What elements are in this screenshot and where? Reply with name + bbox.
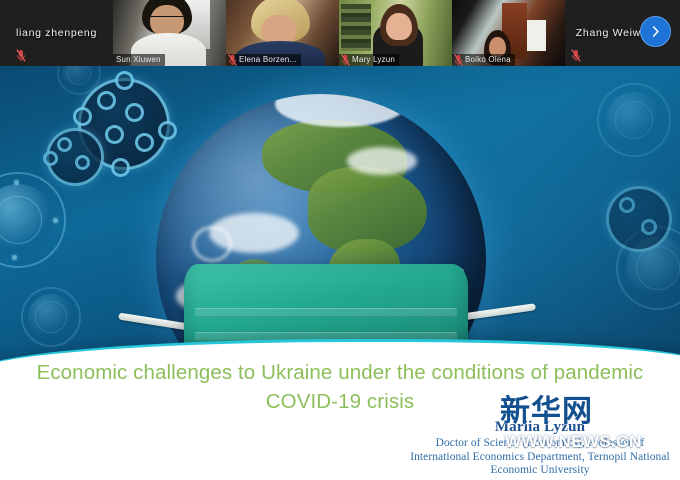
coronavirus-particle: [606, 92, 662, 148]
participant-tile[interactable]: Elena Borzen...: [226, 0, 339, 66]
chevron-right-icon: [648, 24, 663, 39]
microphone-muted-icon: [571, 49, 581, 62]
participant-name: liang zhenpeng: [16, 27, 97, 39]
participant-name: Elena Borzen...: [226, 54, 301, 66]
participant-tile[interactable]: Boiko Olena: [452, 0, 565, 66]
participant-tile[interactable]: Mary Lyzun: [339, 0, 452, 66]
coronavirus-particle: [46, 128, 104, 186]
microphone-muted-icon: [228, 53, 237, 65]
xinhua-logo: 新华网: [500, 396, 593, 428]
coronavirus-particle: [606, 186, 672, 252]
microphone-muted-icon: [16, 49, 26, 62]
participant-tile[interactable]: Sun Xiuwen: [113, 0, 226, 66]
participant-filmstrip: liang zhenpeng Sun Xiuwen: [0, 0, 680, 66]
coronavirus-particle: [28, 294, 74, 340]
microphone-muted-icon: [454, 53, 463, 65]
watermark-url: WWW.NEWS.CN: [505, 432, 642, 452]
participant-tile[interactable]: liang zhenpeng: [0, 0, 113, 66]
coronavirus-particle: [62, 66, 96, 90]
screenshot-root: liang zhenpeng Sun Xiuwen: [0, 0, 680, 480]
participant-name: Sun Xiuwen: [113, 54, 165, 66]
microphone-muted-icon: [341, 53, 350, 65]
coronavirus-particle: [0, 184, 54, 256]
next-page-button[interactable]: [640, 16, 671, 47]
